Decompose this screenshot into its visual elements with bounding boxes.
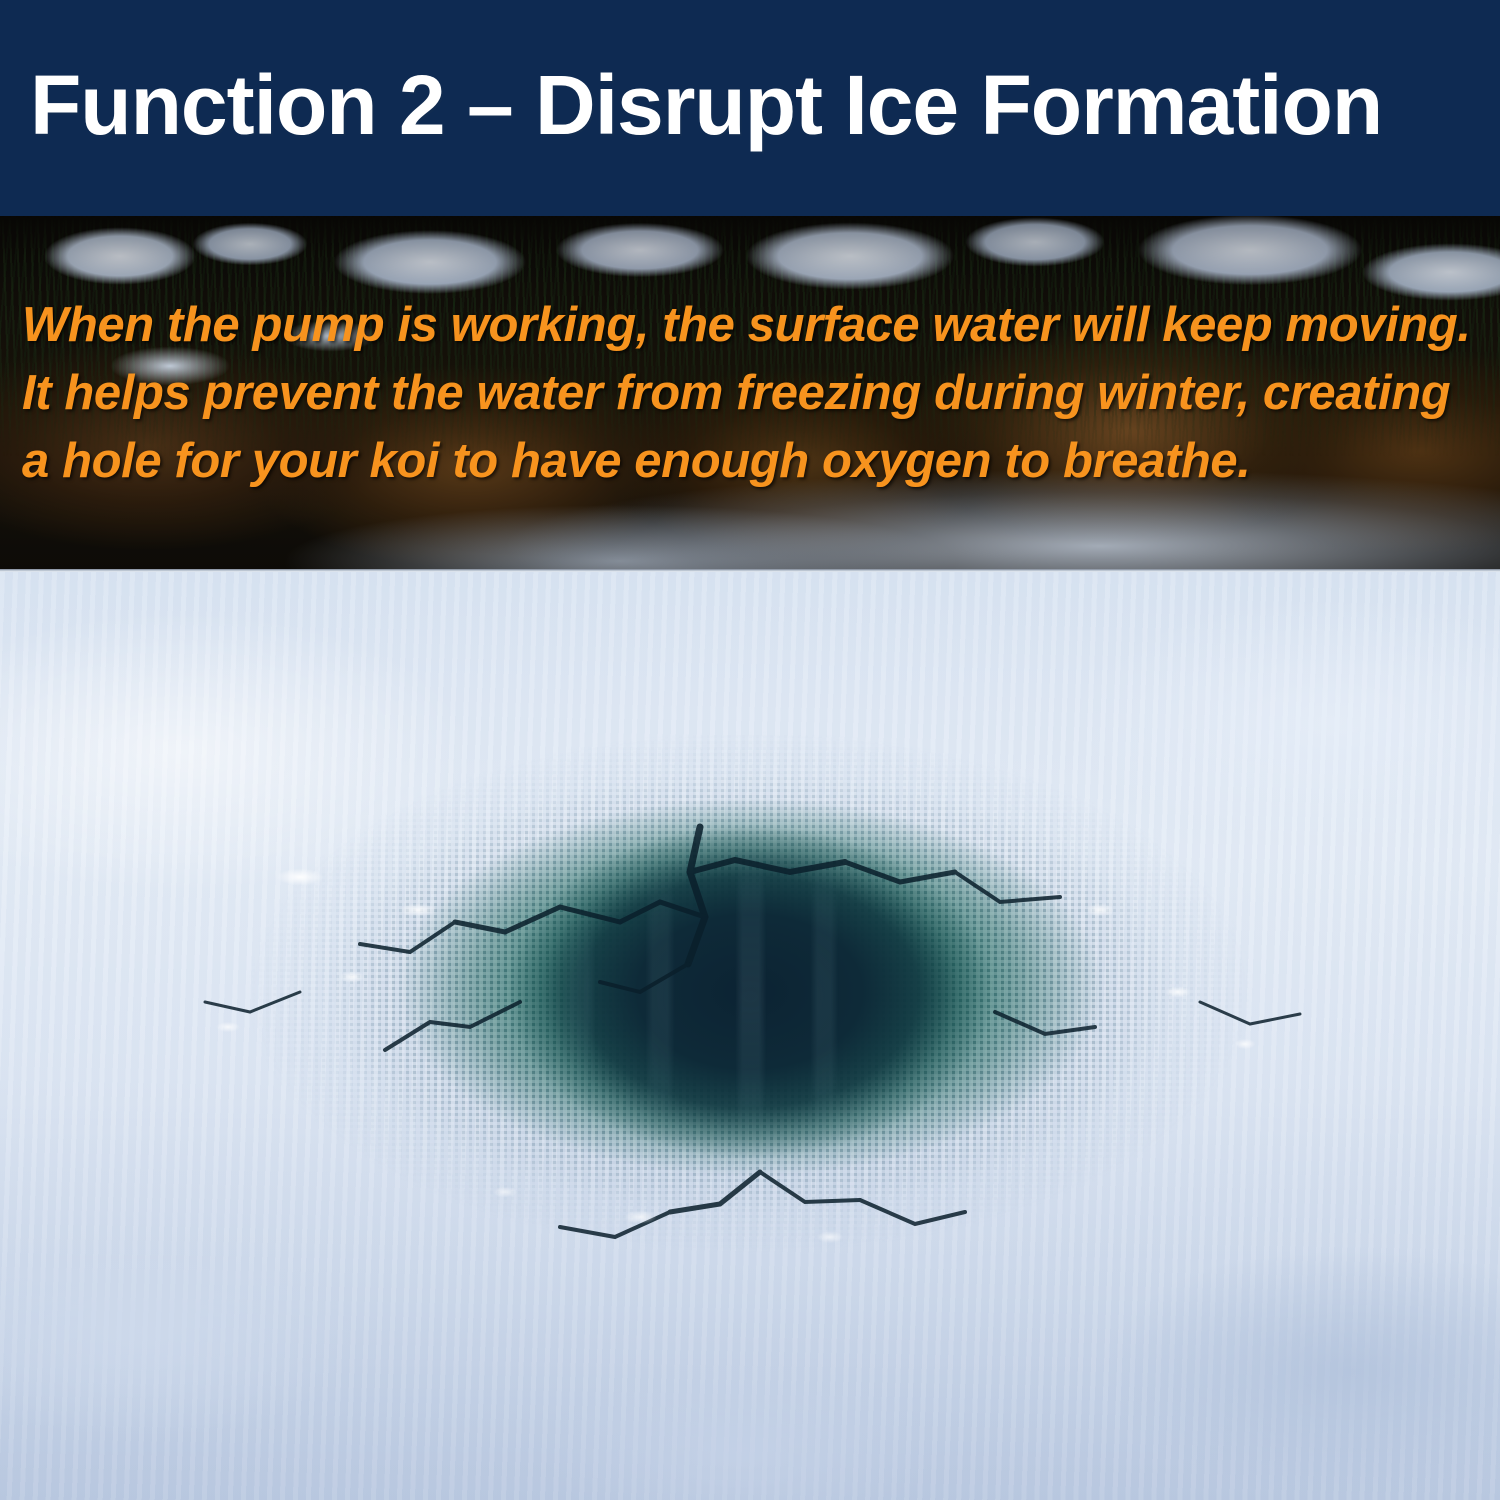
ice-sparkle-layer xyxy=(0,572,1500,1500)
upper-caption-line-3: a hole for your koi to have enough oxyge… xyxy=(22,427,1482,495)
header-bar: Function 2 – Disrupt Ice Formation xyxy=(0,0,1500,216)
page-title: Function 2 – Disrupt Ice Formation xyxy=(30,50,1480,160)
infographic-page: Function 2 – Disrupt Ice Formation When … xyxy=(0,0,1500,1500)
upper-caption: When the pump is working, the surface wa… xyxy=(22,291,1482,495)
upper-caption-line-2: It helps prevent the water from freezing… xyxy=(22,359,1482,427)
snowy-pond-bank-photo: When the pump is working, the surface wa… xyxy=(0,216,1500,571)
upper-caption-line-1: When the pump is working, the surface wa… xyxy=(22,291,1482,359)
ice-hole-photo: IMPORTANT During the winter, move the ai… xyxy=(0,572,1500,1500)
